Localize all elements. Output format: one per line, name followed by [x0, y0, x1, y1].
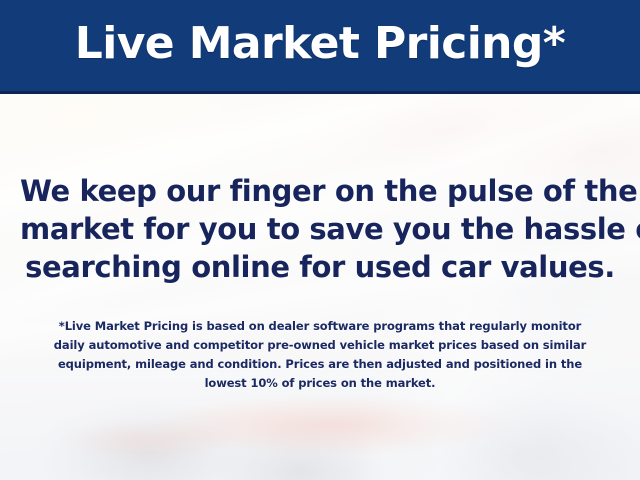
lede-line-3: searching online for used car values. [20, 248, 620, 286]
disclaimer-line-3: equipment, mileage and condition. Prices… [28, 355, 612, 374]
lede-line-2: market for you to save you the hassle of [20, 210, 620, 248]
header-band: Live Market Pricing* [0, 0, 640, 94]
lede-paragraph: We keep our finger on the pulse of the m… [20, 172, 620, 286]
content-area: We keep our finger on the pulse of the m… [0, 94, 640, 480]
live-market-pricing-banner: Live Market Pricing* We keep our finger … [0, 0, 640, 480]
lede-line-1: We keep our finger on the pulse of the [20, 172, 620, 210]
disclaimer-line-2: daily automotive and competitor pre-owne… [28, 336, 612, 355]
disclaimer-line-4: lowest 10% of prices on the market. [28, 374, 612, 393]
page-title: Live Market Pricing* [75, 22, 565, 70]
disclaimer-paragraph: *Live Market Pricing is based on dealer … [28, 317, 612, 393]
disclaimer-line-1: *Live Market Pricing is based on dealer … [28, 317, 612, 336]
